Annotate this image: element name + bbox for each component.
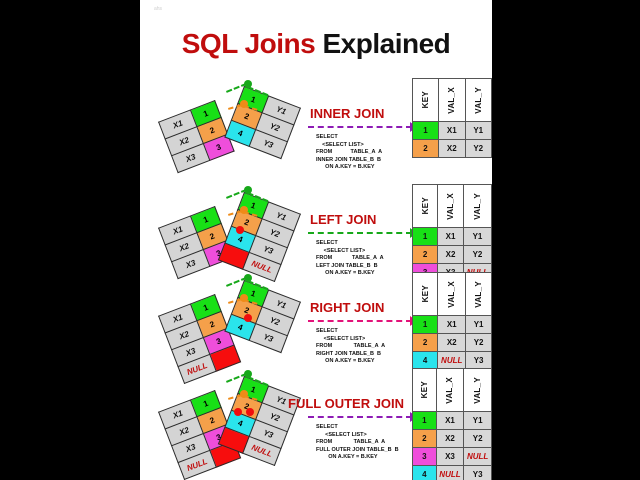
match-dot- g [244, 370, 252, 378]
result-valx-cell: X2 [436, 430, 464, 448]
result-key-cell: 1 [413, 412, 437, 430]
result-column-header-label: VAL_Y [473, 377, 482, 404]
result-row: 2X2Y2 [413, 430, 492, 448]
result-row: 4NULLY3 [413, 466, 492, 480]
result-valx-cell: X1 [439, 122, 465, 140]
result-header-row: KEYVAL_XVAL_Y [413, 185, 492, 228]
match-dot- r [244, 314, 252, 322]
result-row: 1X1Y1 [413, 316, 492, 334]
infographic-page: ahs SQL Joins Explained X11X22X331Y12Y24… [140, 0, 492, 480]
result-valy-cell: Y3 [464, 466, 492, 480]
result-valx-cell: X1 [438, 228, 464, 246]
result-column-header: VAL_X [438, 185, 464, 228]
table-b-diagram: 1Y12Y24Y3 [224, 86, 301, 159]
result-valx-cell: NULL [438, 352, 466, 370]
match-dot- o [240, 390, 248, 398]
sql-snippet: SELECT <SELECT LIST> FROM TABLE_A A INNE… [316, 134, 382, 172]
result-column-header: VAL_X [439, 79, 465, 122]
join-diagram: X11X22X331Y12Y24Y3NULL [152, 184, 332, 276]
match-dot- o [240, 294, 248, 302]
join-arrow [308, 320, 412, 322]
table-b-diagram: 1Y12Y24Y3NULL [218, 192, 301, 282]
result-valy-cell: Y1 [464, 412, 492, 430]
join-block-left-join: X11X22X331Y12Y24Y3NULLLEFT JOINSELECT <S… [140, 184, 492, 280]
result-column-header-label: KEY [420, 381, 429, 398]
match-dot- g [244, 80, 252, 88]
sql-snippet: SELECT <SELECT LIST> FROM TABLE_A A FULL… [316, 424, 399, 462]
result-column-header-label: VAL_X [445, 377, 454, 404]
join-diagram: X11X22X331Y12Y24Y3 [152, 78, 332, 170]
join-arrow [308, 126, 412, 128]
match-dot- r [234, 408, 242, 416]
result-column-header: VAL_Y [466, 273, 492, 316]
result-row: 4NULLY3 [413, 352, 492, 370]
match-dot- r [246, 408, 254, 416]
result-header-row: KEYVAL_XVAL_Y [413, 369, 492, 412]
join-arrow [308, 416, 412, 418]
result-valy-cell: NULL [464, 448, 492, 466]
result-column-header-label: KEY [421, 285, 430, 302]
result-column-header-label: VAL_X [446, 193, 455, 220]
join-arrow [308, 232, 412, 234]
result-valy-cell: Y2 [466, 334, 492, 352]
result-column-header: VAL_Y [463, 185, 491, 228]
result-valx-cell: X1 [436, 412, 464, 430]
result-valy-cell: Y1 [466, 316, 492, 334]
result-key-cell: 1 [413, 122, 439, 140]
result-key-cell: 1 [413, 316, 438, 334]
result-column-header-label: KEY [421, 197, 430, 214]
result-valx-cell: NULL [436, 466, 464, 480]
result-column-header: VAL_X [436, 369, 464, 412]
result-table: KEYVAL_XVAL_Y1X1Y12X2Y2 [412, 78, 492, 158]
result-row: 2X2Y2 [413, 140, 492, 158]
sql-snippet: SELECT <SELECT LIST> FROM TABLE_A A RIGH… [316, 328, 385, 366]
result-key-cell: 1 [413, 228, 438, 246]
result-column-header: VAL_Y [464, 369, 492, 412]
result-key-cell: 4 [413, 352, 438, 370]
result-valy-cell: Y2 [463, 246, 491, 264]
result-column-header-label: KEY [421, 91, 430, 108]
join-label: RIGHT JOIN [310, 300, 384, 315]
result-key-cell: 2 [413, 430, 437, 448]
result-column-header: KEY [413, 185, 438, 228]
screenshot-stage: ahs SQL Joins Explained X11X22X331Y12Y24… [0, 0, 640, 480]
match-dot- g [244, 186, 252, 194]
corner-watermark: ahs [154, 6, 162, 12]
result-valx-cell: X3 [436, 448, 464, 466]
join-label: INNER JOIN [310, 106, 384, 121]
result-key-cell: 2 [413, 140, 439, 158]
match-dot- r [236, 226, 244, 234]
result-header-row: KEYVAL_XVAL_Y [413, 273, 492, 316]
join-block-inner-join: X11X22X331Y12Y24Y3INNER JOINSELECT <SELE… [140, 78, 492, 174]
result-header-row: KEYVAL_XVAL_Y [413, 79, 492, 122]
join-diagram: X11X22X33NULL1Y12Y24Y3 [152, 272, 332, 364]
result-column-header: VAL_X [438, 273, 466, 316]
result-key-cell: 2 [413, 246, 438, 264]
page-title-sql-joins: SQL Joins [182, 28, 323, 59]
result-table: KEYVAL_XVAL_Y1X1Y12X2Y23X3NULL4NULLY3 [412, 368, 492, 480]
result-row: 1X1Y1 [413, 412, 492, 430]
result-valy-cell: Y2 [465, 140, 492, 158]
match-dot- g [244, 274, 252, 282]
join-block-full-outer-join: X11X22X33NULL1Y12Y24Y3NULLFULL OUTER JOI… [140, 368, 492, 464]
result-column-header: VAL_Y [465, 79, 492, 122]
join-label: LEFT JOIN [310, 212, 376, 227]
table-b-diagram: 1Y12Y24Y3 [224, 280, 301, 353]
result-valy-cell: Y1 [465, 122, 492, 140]
result-column-header: KEY [413, 79, 439, 122]
result-column-header-label: VAL_Y [474, 87, 483, 114]
result-column-header-label: VAL_X [447, 281, 456, 308]
result-row: 2X2Y2 [413, 334, 492, 352]
join-label: FULL OUTER JOIN [288, 396, 404, 411]
result-table: KEYVAL_XVAL_Y1X1Y12X2Y24NULLY3 [412, 272, 492, 370]
page-title-explained: Explained [322, 28, 450, 59]
result-valx-cell: X2 [439, 140, 465, 158]
result-column-header: KEY [413, 369, 437, 412]
match-dot- o [240, 100, 248, 108]
result-valx-cell: X1 [438, 316, 466, 334]
match-dot- o [240, 206, 248, 214]
result-key-cell: 4 [413, 466, 437, 480]
result-row: 1X1Y1 [413, 228, 492, 246]
result-valy-cell: Y3 [466, 352, 492, 370]
result-valy-cell: Y2 [464, 430, 492, 448]
result-valy-cell: Y1 [463, 228, 491, 246]
result-column-header: KEY [413, 273, 438, 316]
result-column-header-label: VAL_Y [473, 193, 482, 220]
result-column-header-label: VAL_Y [474, 281, 483, 308]
join-block-right-join: X11X22X33NULL1Y12Y24Y3RIGHT JOINSELECT <… [140, 272, 492, 368]
result-valx-cell: X2 [438, 246, 464, 264]
result-row: 1X1Y1 [413, 122, 492, 140]
result-key-cell: 2 [413, 334, 438, 352]
page-title: SQL Joins Explained [140, 28, 492, 60]
result-column-header-label: VAL_X [447, 87, 456, 114]
result-row: 3X3NULL [413, 448, 492, 466]
result-table: KEYVAL_XVAL_Y1X1Y12X2Y23X3NULL [412, 184, 492, 282]
result-valx-cell: X2 [438, 334, 466, 352]
result-row: 2X2Y2 [413, 246, 492, 264]
result-key-cell: 3 [413, 448, 437, 466]
join-diagram: X11X22X33NULL1Y12Y24Y3NULL [152, 368, 332, 460]
